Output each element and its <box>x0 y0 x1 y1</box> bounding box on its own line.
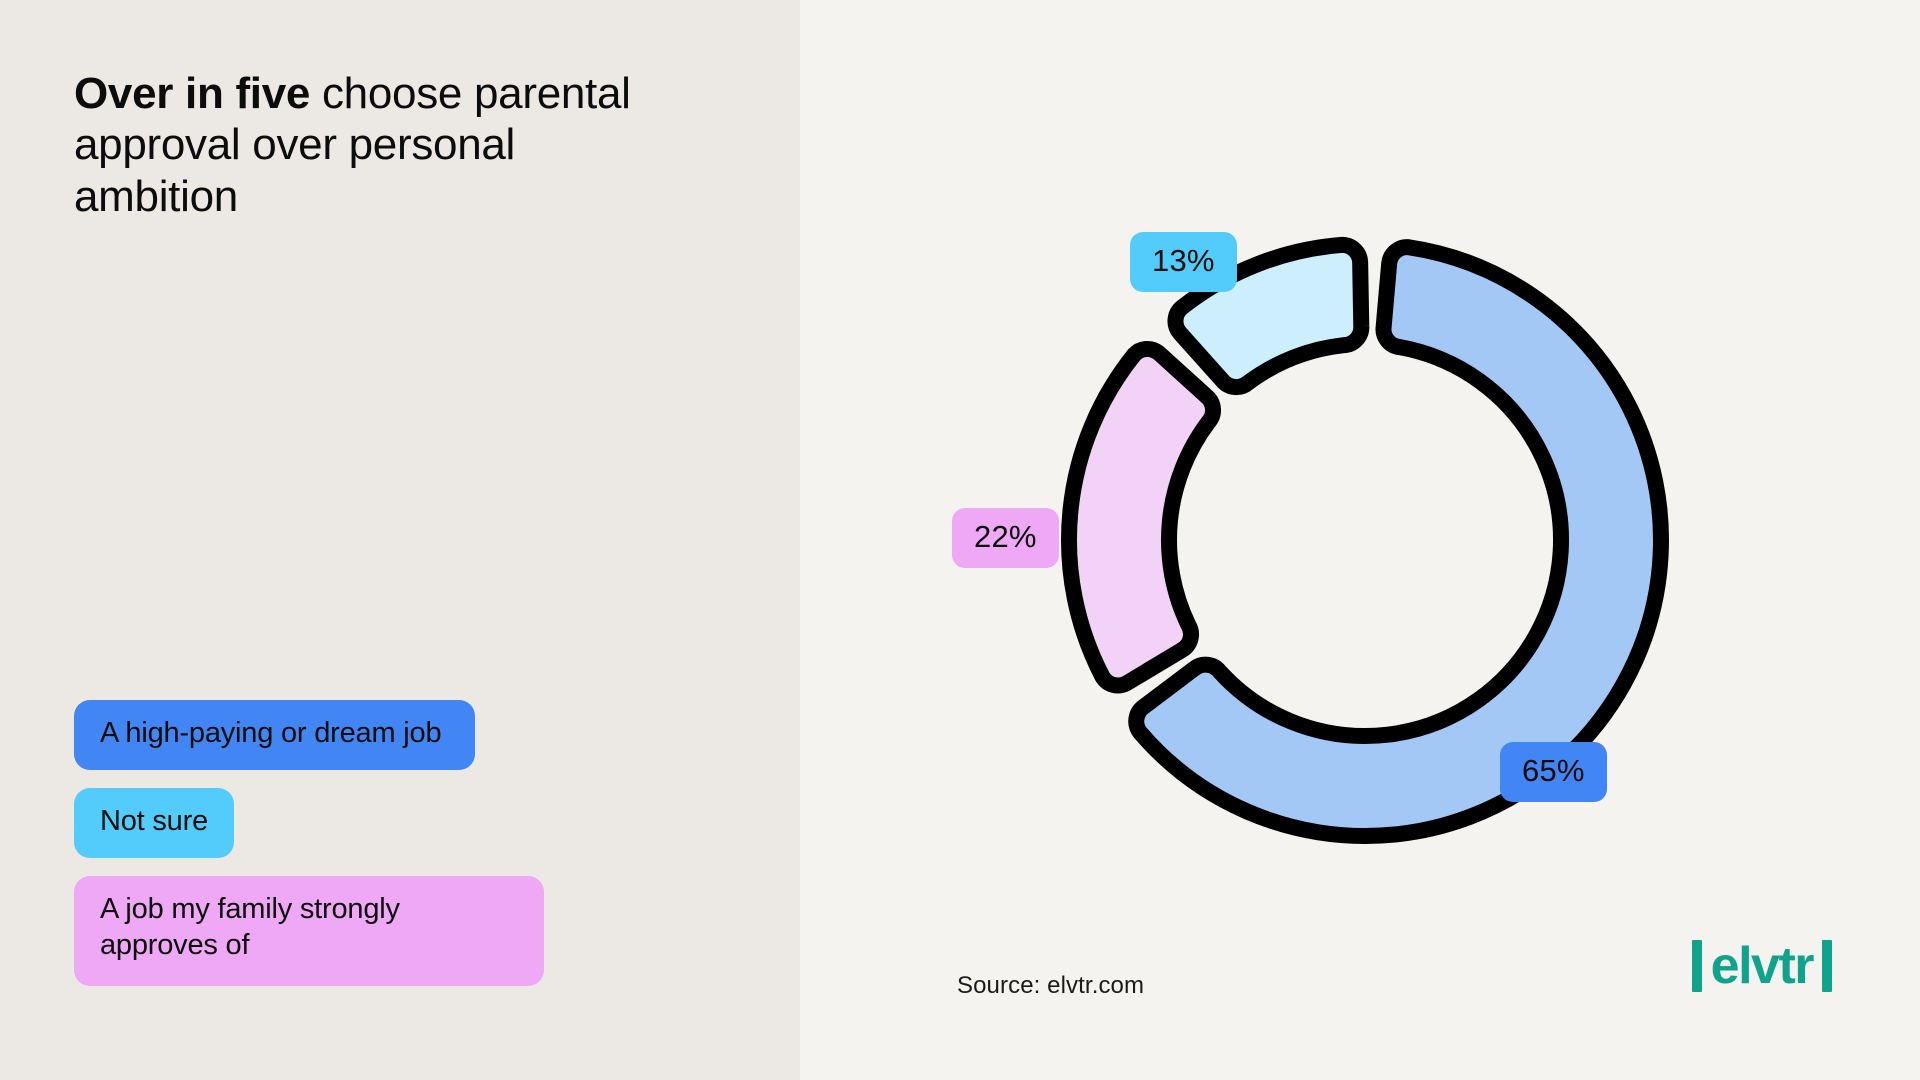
headline-strong: Over in five <box>74 69 310 118</box>
legend: A high-paying or dream job Not sure A jo… <box>74 700 714 1004</box>
data-label-family-approves: 22% <box>952 508 1059 568</box>
elvtr-logo[interactable]: elvtr <box>1692 940 1832 992</box>
left-panel: Over in five choose parental approval ov… <box>0 0 800 1080</box>
page-title: Over in five choose parental approval ov… <box>74 68 674 222</box>
data-label-not-sure: 13% <box>1130 232 1237 292</box>
right-panel: 13% 22% 65% Source: elvtr.com elvtr <box>800 0 1920 1080</box>
data-label-high-paying-job: 65% <box>1500 742 1607 802</box>
donut-chart: 13% 22% 65% <box>800 0 1920 1080</box>
donut-segment-family-approves[interactable] <box>1069 349 1213 686</box>
source-caption: Source: elvtr.com <box>957 972 1144 1000</box>
logo-bar-right <box>1822 940 1832 992</box>
infographic-canvas: Over in five choose parental approval ov… <box>0 0 1920 1080</box>
legend-item-family-approves[interactable]: A job my family strongly approves of <box>74 876 544 986</box>
legend-item-not-sure[interactable]: Not sure <box>74 788 234 858</box>
logo-bar-left <box>1692 940 1702 992</box>
legend-item-high-paying-job[interactable]: A high-paying or dream job <box>74 700 475 770</box>
logo-wordmark: elvtr <box>1711 940 1813 992</box>
